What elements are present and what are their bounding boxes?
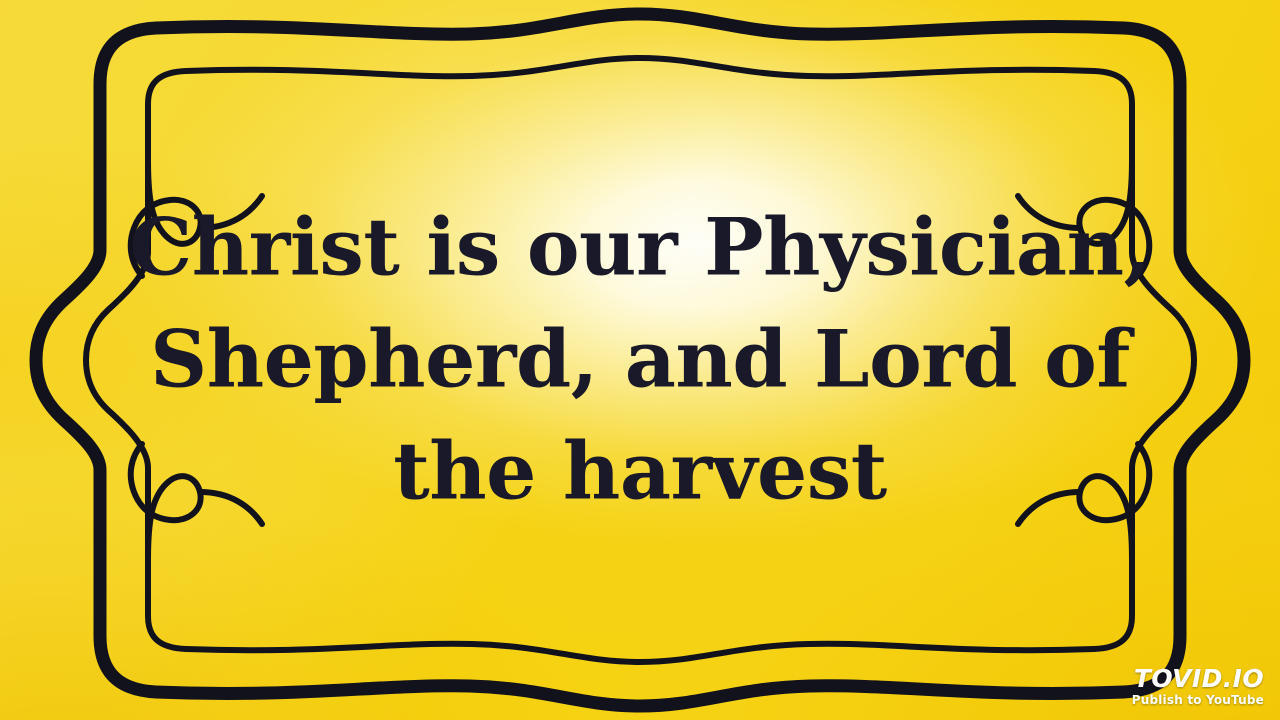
quote-line-1: Christ is our Physician, xyxy=(110,192,1170,304)
quote-line-3: the harvest xyxy=(110,416,1170,528)
quote-card-canvas: Christ is our Physician, Shepherd, and L… xyxy=(0,0,1280,720)
watermark-tagline: Publish to YouTube xyxy=(1132,694,1264,706)
watermark-brand: TOVID.IO xyxy=(1132,666,1264,691)
quote-line-2: Shepherd, and Lord of xyxy=(110,304,1170,416)
watermark: TOVID.IO Publish to YouTube xyxy=(1132,666,1264,706)
quote-text-block: Christ is our Physician, Shepherd, and L… xyxy=(110,192,1170,529)
